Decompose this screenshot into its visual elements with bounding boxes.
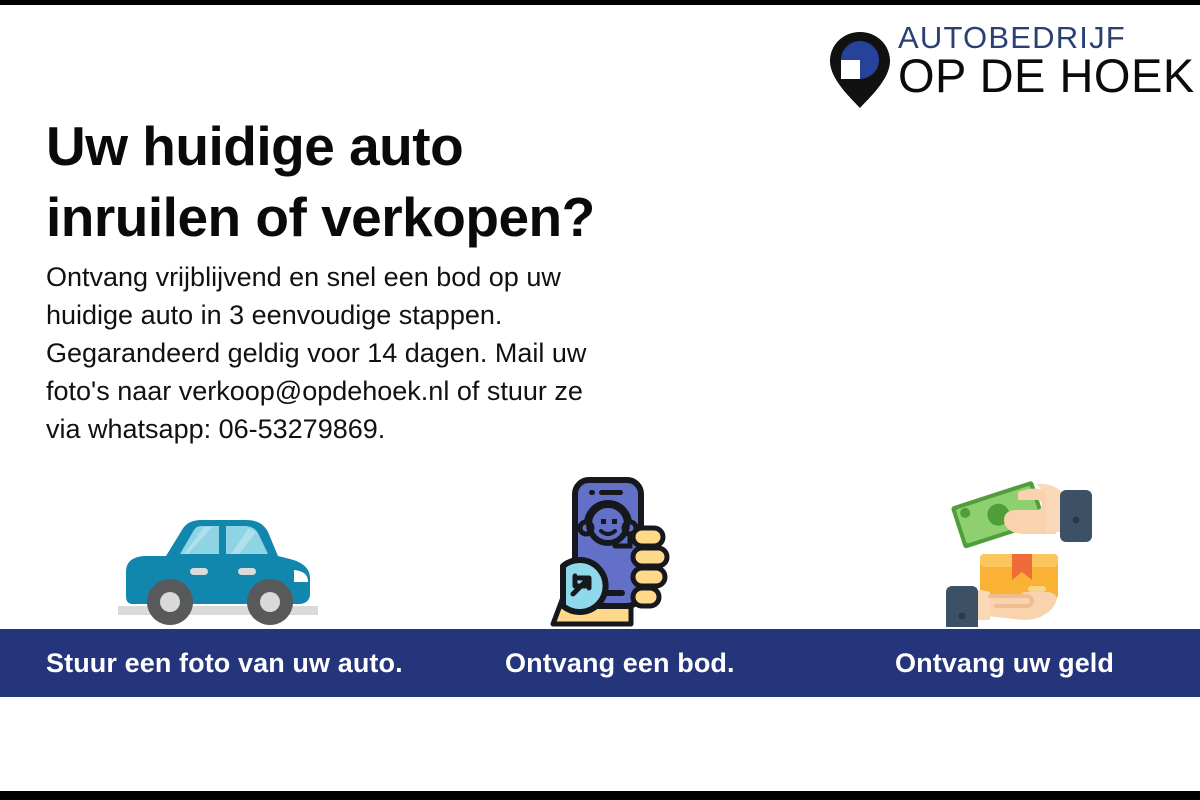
page-title: Uw huidige auto inruilen of verkopen? [46,111,706,253]
brand-line-opdehoek: OP DE HOEK [898,52,1195,100]
steps-band: Stuur een foto van uw auto. Ontvang een … [0,629,1200,697]
letterbox-strip-top [0,0,1200,5]
body-line-3: Gegarandeerd geldig voor 14 dagen. Mail … [46,334,726,372]
body-line-1: Ontvang vrijblijvend en snel een bod op … [46,258,726,296]
step-1-icon-cell [0,455,440,635]
map-pin-icon [820,30,900,110]
hand-holding-phone-icon [545,472,675,627]
body-line-4: foto's naar verkoop@opdehoek.nl of stuur… [46,372,726,410]
car-icon [118,510,318,630]
headline-line-1: Uw huidige auto [46,111,706,182]
headline-line-2: inruilen of verkopen? [46,182,706,253]
step-3-icon-cell [760,455,1200,635]
brand-logo[interactable]: AUTOBEDRIJF OP DE HOEK [820,14,1200,110]
body-line-2: huidige auto in 3 eenvoudige stappen. [46,296,726,334]
letterbox-strip-bottom [0,791,1200,800]
brand-wordmark: AUTOBEDRIJF OP DE HOEK [898,22,1195,100]
step-3-label: Ontvang uw geld [895,629,1114,697]
step-2-icon-cell [440,455,760,635]
step-1-label: Stuur een foto van uw auto. [46,629,403,697]
hands-exchanging-money-icon [940,472,1100,627]
intro-paragraph: Ontvang vrijblijvend en snel een bod op … [46,258,726,448]
step-2-label: Ontvang een bod. [505,629,735,697]
steps-icon-row [0,455,1200,635]
poster-canvas: AUTOBEDRIJF OP DE HOEK Uw huidige auto i… [0,0,1200,800]
body-line-5: via whatsapp: 06-53279869. [46,410,726,448]
